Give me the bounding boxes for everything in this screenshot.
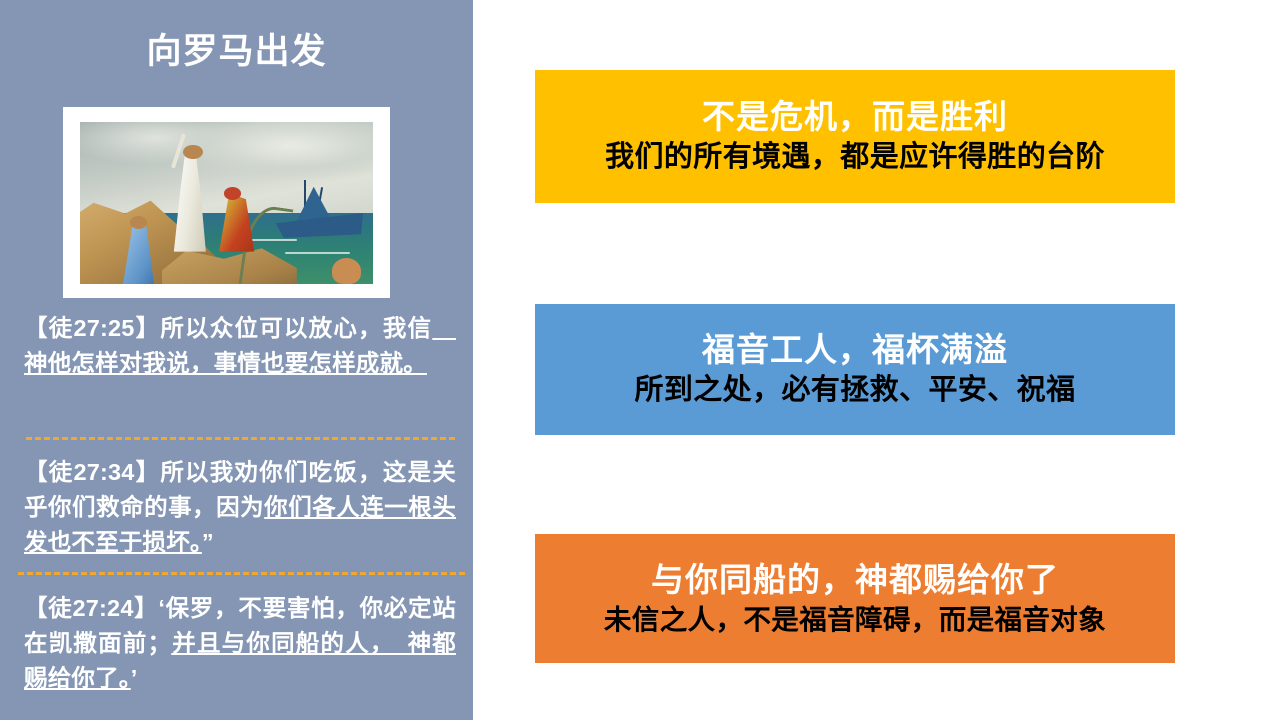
verse-reference: 【徒27:24】 bbox=[24, 595, 158, 621]
painting-wave bbox=[285, 252, 349, 254]
scripture-verse: 【徒27:24】‘保罗，不要害怕，你必定站在凯撒面前；并且与你同船的人， 神都赐… bbox=[24, 591, 456, 695]
sidebar-panel: 向罗马出发 bbox=[0, 0, 473, 720]
point-banner-victory: 不是危机，而是胜利 我们的所有境遇，都是应许得胜的台阶 bbox=[535, 70, 1175, 203]
verse-divider bbox=[18, 572, 465, 575]
scripture-verse: 【徒27:34】所以我劝你们吃饭，这是关乎你们救命的事，因为你们各人连一根头发也… bbox=[24, 455, 456, 559]
verse-reference: 【徒27:25】 bbox=[24, 315, 160, 341]
point-banner-gospel-worker: 福音工人，福杯满溢 所到之处，必有拯救、平安、祝福 bbox=[535, 304, 1175, 435]
verse-reference: 【徒27:34】 bbox=[24, 459, 160, 485]
point-banner-shipmates: 与你同船的，神都赐给你了 未信之人，不是福音障碍，而是福音对象 bbox=[535, 534, 1175, 663]
painting-head bbox=[130, 216, 148, 229]
picture-frame bbox=[63, 107, 390, 298]
verse-tail-text: ” bbox=[202, 529, 214, 555]
painting-head bbox=[224, 187, 242, 200]
banner-headline: 与你同船的，神都赐给你了 bbox=[651, 561, 1059, 600]
presentation-slide: 向罗马出发 bbox=[0, 0, 1280, 720]
verse-divider bbox=[26, 437, 455, 440]
banner-subtitle: 所到之处，必有拯救、平安、祝福 bbox=[634, 373, 1075, 408]
banner-subtitle: 我们的所有境遇，都是应许得胜的台阶 bbox=[605, 140, 1105, 175]
verse-tail-text: ’ bbox=[131, 665, 138, 691]
painting-sky bbox=[80, 122, 373, 222]
banner-headline: 福音工人，福杯满溢 bbox=[702, 331, 1008, 370]
banner-subtitle: 未信之人，不是福音障碍，而是福音对象 bbox=[604, 603, 1106, 637]
banner-headline: 不是危机，而是胜利 bbox=[702, 98, 1008, 137]
page-title: 向罗马出发 bbox=[0, 33, 473, 72]
painting-swimmer bbox=[332, 258, 361, 284]
scripture-verse: 【徒27:25】所以众位可以放心，我信 神他怎样对我说，事情也要怎样成就。 bbox=[24, 311, 456, 381]
verse-lead-text: 所以众位可以放心，我信 bbox=[160, 315, 432, 341]
paul-shipwreck-painting bbox=[80, 122, 373, 284]
